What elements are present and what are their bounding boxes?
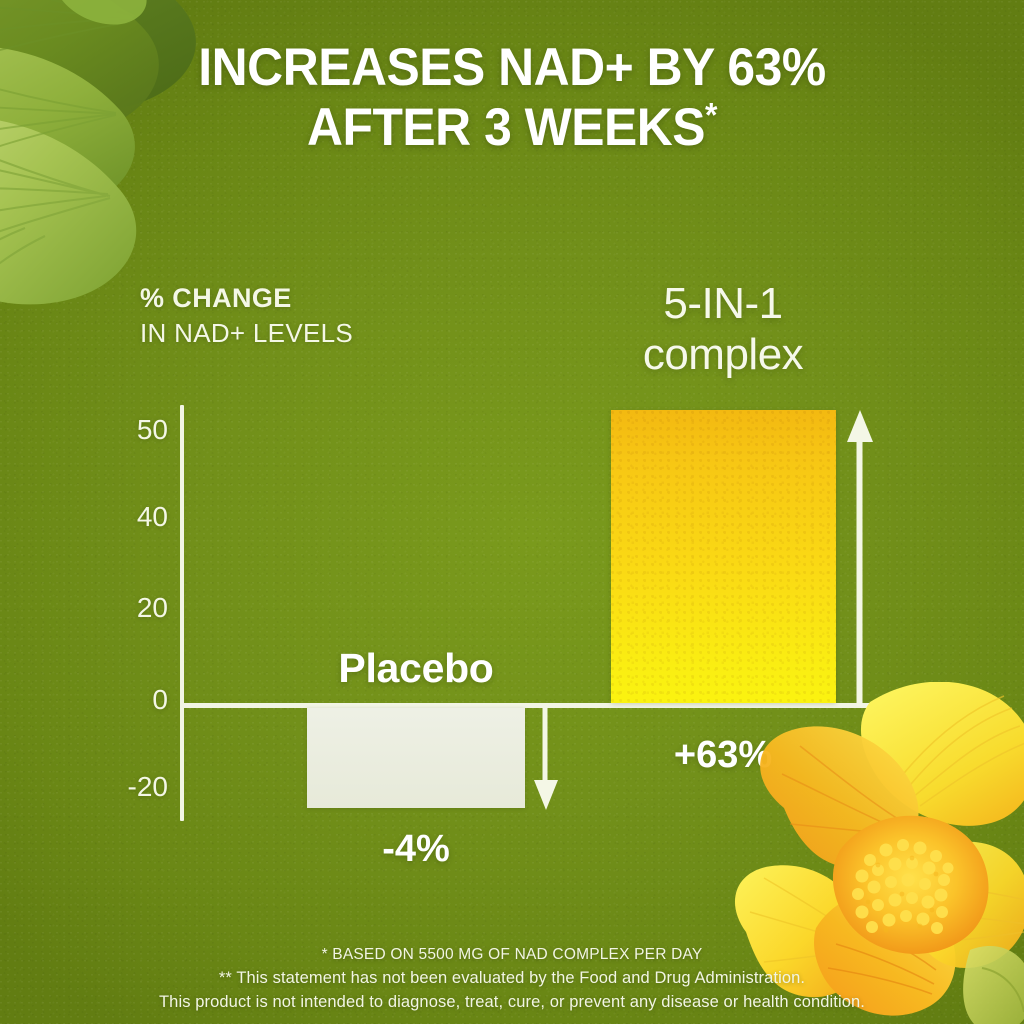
bar-five-in-one-complex (611, 410, 836, 703)
y-axis-ticks: 50 40 20 0 -20 (100, 0, 168, 1024)
bar-label-five-in-one-complex: 5-IN-1 complex (583, 278, 863, 380)
bar-value-placebo: -4% (307, 828, 525, 871)
y-axis-caption-subtitle: IN NAD+ LEVELS (140, 318, 353, 349)
complex-label-line-2: complex (643, 330, 803, 379)
footnote-line-1: * BASED ON 5500 MG OF NAD COMPLEX PER DA… (0, 944, 1024, 966)
bar-texture (611, 410, 836, 703)
y-axis-caption: % CHANGE IN NAD+ LEVELS (140, 283, 353, 349)
footnotes: * BASED ON 5500 MG OF NAD COMPLEX PER DA… (0, 944, 1024, 1014)
y-tick-40: 40 (108, 501, 168, 533)
y-tick-20: 20 (108, 592, 168, 624)
y-tick-50: 50 (108, 414, 168, 446)
bar-value-five-in-one-complex: +63% (613, 734, 833, 777)
arrow-down-icon (532, 708, 560, 812)
y-axis-caption-title: % CHANGE (140, 283, 353, 314)
infographic-canvas: INCREASES NAD+ BY 63% AFTER 3 WEEKS* % C… (0, 0, 1024, 1024)
bar-placebo (307, 708, 525, 808)
arrow-up-icon (845, 408, 875, 708)
bar-label-placebo: Placebo (307, 645, 525, 692)
y-axis-line (180, 405, 184, 821)
footnote-line-2: ** This statement has not been evaluated… (0, 966, 1024, 990)
nad-bar-chart: % CHANGE IN NAD+ LEVELS 50 40 20 0 -20 P… (0, 0, 1024, 1024)
y-tick-minus-20: -20 (108, 771, 168, 803)
complex-label-line-1: 5-IN-1 (663, 279, 782, 328)
y-tick-0: 0 (108, 684, 168, 716)
footnote-line-3: This product is not intended to diagnose… (0, 990, 1024, 1014)
